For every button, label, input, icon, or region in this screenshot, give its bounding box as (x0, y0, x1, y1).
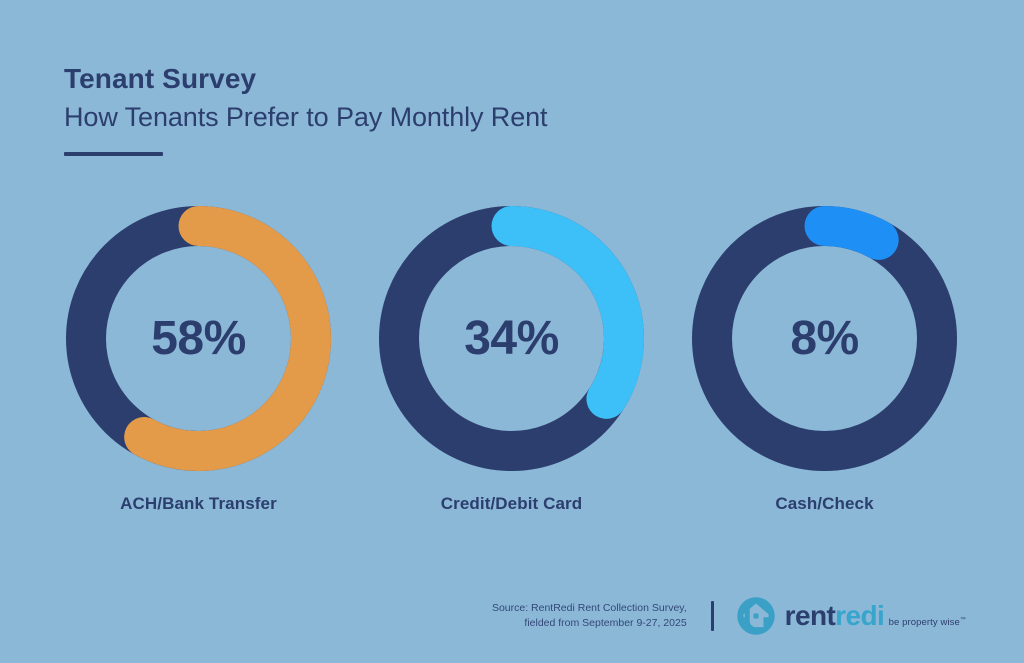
donut-chart-credit-debit-card: 34% Credit/Debit Card (379, 206, 644, 536)
footer-divider (711, 601, 714, 631)
donut-ring-1: 58% (66, 206, 331, 471)
donut-svg-1 (66, 206, 331, 471)
rentredi-logo: rentredi be property wise™ (736, 596, 966, 636)
donut-svg-2 (379, 206, 644, 471)
donut-ring-3: 8% (692, 206, 957, 471)
page-title: Tenant Survey (64, 62, 824, 96)
donut-category-label-3: Cash/Check (662, 494, 987, 514)
donut-ring-2: 34% (379, 206, 644, 471)
logo-trademark-symbol: ™ (960, 617, 966, 623)
infographic-canvas: Tenant Survey How Tenants Prefer to Pay … (0, 0, 1024, 663)
rentredi-house-logomark-icon (736, 596, 776, 636)
rentredi-wordmark: rentredi be property wise™ (785, 602, 966, 630)
logo-tagline: be property wise™ (889, 617, 966, 628)
donut-chart-row: 58% ACH/Bank Transfer 34% Credit/Debit C… (0, 206, 1024, 536)
source-attribution: Source: RentRedi Rent Collection Survey,… (492, 601, 687, 631)
footer: Source: RentRedi Rent Collection Survey,… (0, 588, 1024, 644)
logo-word-redi: redi (835, 600, 884, 631)
donut-category-label-2: Credit/Debit Card (349, 494, 674, 514)
donut-chart-cash-check: 8% Cash/Check (692, 206, 957, 536)
donut-track-3 (712, 226, 937, 451)
donut-svg-3 (692, 206, 957, 471)
logo-word: rentredi (785, 600, 884, 631)
title-underline-accent (64, 152, 163, 156)
logo-tagline-text: be property wise (889, 617, 960, 628)
source-line-2: fielded from September 9-27, 2025 (492, 616, 687, 631)
donut-chart-ach-bank-transfer: 58% ACH/Bank Transfer (66, 206, 331, 536)
donut-category-label-1: ACH/Bank Transfer (36, 494, 361, 514)
source-line-1: Source: RentRedi Rent Collection Survey, (492, 601, 687, 616)
header: Tenant Survey How Tenants Prefer to Pay … (64, 62, 824, 156)
logo-word-rent: rent (785, 600, 836, 631)
page-subtitle: How Tenants Prefer to Pay Monthly Rent (64, 100, 824, 134)
